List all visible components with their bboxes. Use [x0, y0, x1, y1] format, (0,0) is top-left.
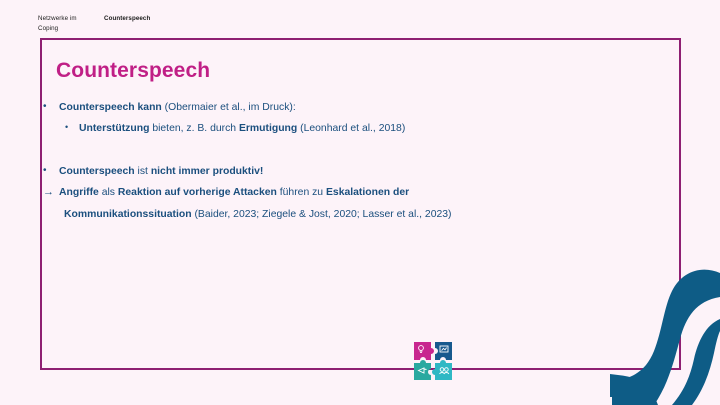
- list-item: • Counterspeech kann (Obermaier et al., …: [40, 100, 640, 115]
- list-item-text: Kommunikationssituation (Baider, 2023; Z…: [64, 207, 640, 222]
- puzzle-tile-top-right: [435, 342, 452, 360]
- list-item: • Counterspeech ist nicht immer produkti…: [40, 164, 640, 179]
- text-segment: Counterspeech: [59, 166, 138, 177]
- page-title: Counterspeech: [56, 59, 210, 83]
- list-item: → Angriffe als Reaktion auf vorherige At…: [40, 185, 640, 200]
- text-segment: Eskalationen der: [326, 187, 409, 198]
- text-segment: Unterstützung: [79, 123, 152, 134]
- arrow-right-icon: →: [43, 185, 59, 200]
- text-segment: Angriffe: [59, 187, 102, 198]
- running-head-left-line2: Coping: [38, 24, 90, 34]
- list-spacer: [40, 142, 640, 164]
- running-head-left: Netzwerke im Coping: [38, 14, 90, 33]
- running-head-left-line1: Netzwerke im: [38, 14, 90, 24]
- list-item-text: Counterspeech kann (Obermaier et al., im…: [59, 100, 640, 115]
- text-segment: (Obermaier et al., im Druck):: [165, 102, 296, 113]
- list-item-continuation: Kommunikationssituation (Baider, 2023; Z…: [40, 207, 640, 222]
- list-item-text: Unterstützung bieten, z. B. durch Ermuti…: [79, 121, 640, 136]
- bullet-dot-icon: •: [65, 121, 79, 134]
- running-head: Netzwerke im Coping Counterspeech: [38, 14, 150, 33]
- puzzle-tile-bottom-right: [432, 360, 452, 380]
- slide-canvas: Netzwerke im Coping Counterspeech Counte…: [0, 0, 720, 405]
- bullet-list: • Counterspeech kann (Obermaier et al., …: [40, 100, 640, 222]
- bullet-dot-icon: •: [43, 164, 59, 179]
- list-item-text: Angriffe als Reaktion auf vorherige Atta…: [59, 185, 640, 200]
- text-segment: nicht immer produktiv!: [151, 166, 264, 177]
- text-segment: Counterspeech kann: [59, 102, 165, 113]
- text-segment: bieten, z. B. durch: [152, 123, 239, 134]
- text-segment: Reaktion auf vorherige Attacken: [118, 187, 280, 198]
- text-segment: als: [102, 187, 118, 198]
- text-segment: (Leonhard et al., 2018): [300, 123, 405, 134]
- puzzle-tile-bottom-left: [414, 360, 431, 380]
- text-segment: Kommunikationssituation: [64, 209, 194, 220]
- puzzle-logo: [413, 341, 453, 381]
- puzzle-tile-top-left: [414, 342, 434, 360]
- list-item-text: Counterspeech ist nicht immer produktiv!: [59, 164, 640, 179]
- text-segment: Ermutigung: [239, 123, 300, 134]
- running-head-right: Counterspeech: [104, 14, 150, 24]
- text-segment: führen zu: [280, 187, 326, 198]
- text-segment: ist: [138, 166, 151, 177]
- text-segment: (Baider, 2023; Ziegele & Jost, 2020; Las…: [194, 209, 451, 220]
- list-item: • Unterstützung bieten, z. B. durch Ermu…: [40, 121, 640, 136]
- bullet-dot-icon: •: [43, 100, 59, 115]
